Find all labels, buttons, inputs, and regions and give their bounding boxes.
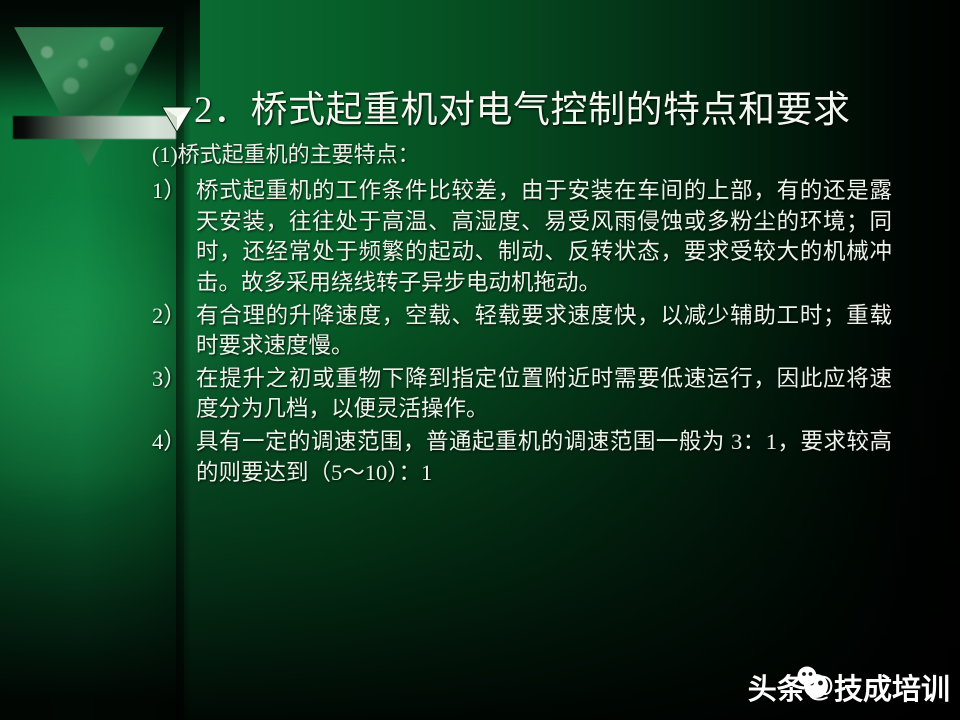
list-item-text: 有合理的升降速度，空载、轻载要求速度快，以减少辅助工时；重载时要求速度慢。 (196, 301, 892, 362)
list-marker: 4） (152, 427, 196, 458)
list-item: 4） 具有一定的调速范围，普通起重机的调速范围一般为 3：1，要求较高的则要达到… (152, 427, 892, 488)
toutiao-smiley-icon (794, 663, 852, 703)
list-item: 1） 桥式起重机的工作条件比较差，由于安装在车间的上部，有的还是露天安装，往往处… (152, 176, 892, 298)
section-subheading: (1)桥式起重机的主要特点： (152, 143, 892, 167)
feature-list: 1） 桥式起重机的工作条件比较差，由于安装在车间的上部，有的还是露天安装，往往处… (152, 176, 892, 488)
list-item: 3） 在提升之初或重物下降到指定位置附近时需要低速运行，因此应将速度分为几档，以… (152, 364, 892, 425)
list-item: 2） 有合理的升降速度，空载、轻载要求速度快，以减少辅助工时；重载时要求速度慢。 (152, 301, 892, 362)
slide-content: 2．桥式起重机对电气控制的特点和要求 (1)桥式起重机的主要特点： 1） 桥式起… (152, 92, 892, 490)
list-marker: 3） (152, 364, 196, 395)
list-marker: 1） (152, 176, 196, 207)
slide-canvas: 2．桥式起重机对电气控制的特点和要求 (1)桥式起重机的主要特点： 1） 桥式起… (0, 0, 960, 720)
list-item-text: 桥式起重机的工作条件比较差，由于安装在车间的上部，有的还是露天安装，往往处于高温… (196, 176, 892, 298)
list-marker: 2） (152, 301, 196, 332)
watermark: 头条 @ 技成培训 (748, 664, 950, 710)
page-title: 2．桥式起重机对电气控制的特点和要求 (152, 92, 892, 129)
list-item-text: 在提升之初或重物下降到指定位置附近时需要低速运行，因此应将速度分为几档，以便灵活… (196, 364, 892, 425)
list-item-text: 具有一定的调速范围，普通起重机的调速范围一般为 3：1，要求较高的则要达到（5～… (196, 427, 892, 488)
